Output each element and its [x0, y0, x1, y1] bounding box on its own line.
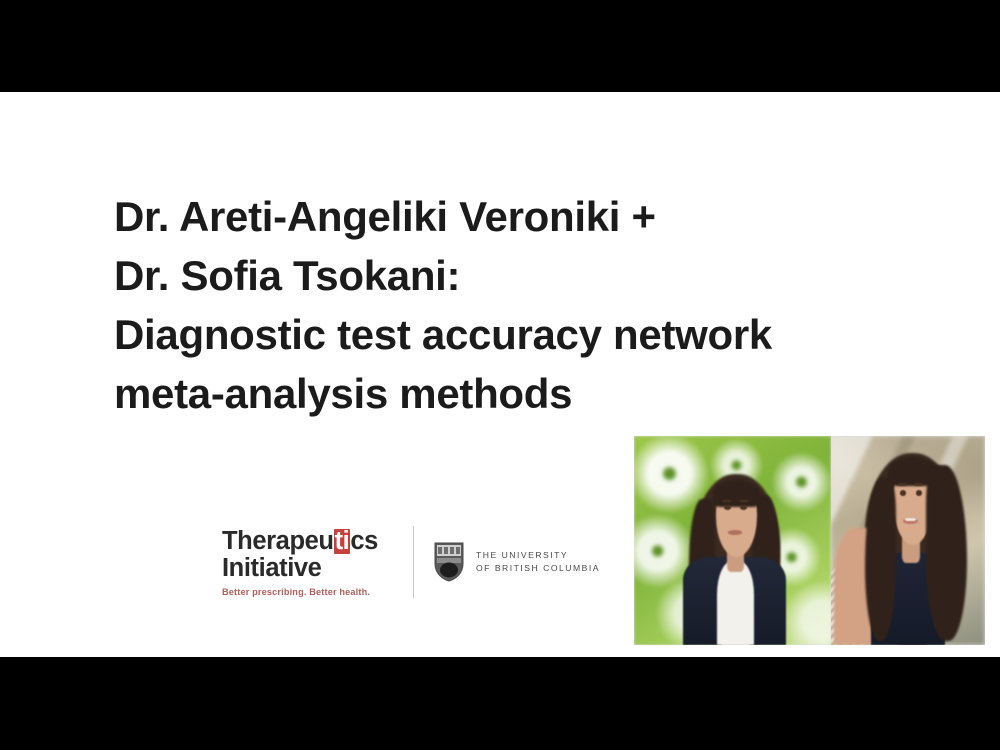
ubc-logo: THE UNIVERSITY OF BRITISH COLUMBIA — [434, 542, 600, 582]
ubc-wordmark: THE UNIVERSITY OF BRITISH COLUMBIA — [476, 549, 600, 575]
hair-left — [865, 478, 896, 641]
ubc-wordmark-line-2: OF BRITISH COLUMBIA — [476, 563, 600, 573]
ti-wordmark-part-2: cs — [350, 527, 378, 555]
ti-wordmark-part-1: Therapeu — [222, 527, 334, 555]
letterbox-bar-top — [0, 0, 1000, 92]
ubc-crest-icon — [434, 542, 464, 582]
logo-row: Therapeutics Initiative Better prescribi… — [222, 522, 600, 602]
eyebrow-left — [722, 500, 732, 503]
logo-divider — [413, 526, 414, 598]
ti-wordmark-line-2: Initiative — [222, 555, 397, 582]
ti-wordmark-highlight: ti — [334, 529, 351, 554]
letterbox-bar-bottom — [0, 657, 1000, 750]
speaker-photos — [634, 436, 985, 645]
hair-fringe — [888, 457, 937, 486]
teeth — [905, 518, 916, 520]
speaker-portrait-left — [634, 436, 831, 645]
eyebrow-right — [739, 500, 749, 503]
ti-wordmark-line-1: Therapeutics — [222, 528, 397, 555]
title-line-3: Diagnostic test accuracy network — [114, 305, 944, 364]
hair-fringe — [713, 480, 760, 507]
title-line-1: Dr. Areti-Angeliki Veroniki + — [114, 187, 944, 246]
title-line-2: Dr. Sofia Tsokani: — [114, 246, 944, 305]
presentation-slide: Dr. Areti-Angeliki Veroniki + Dr. Sofia … — [0, 92, 1000, 657]
video-player-frame: Dr. Areti-Angeliki Veroniki + Dr. Sofia … — [0, 0, 1000, 750]
mouth — [728, 530, 743, 535]
speaker-portrait-right — [831, 436, 985, 645]
slide-title: Dr. Areti-Angeliki Veroniki + Dr. Sofia … — [114, 187, 944, 423]
ti-tagline: Better prescribing. Better health. — [222, 587, 397, 597]
ubc-wordmark-line-1: THE UNIVERSITY — [476, 550, 568, 560]
therapeutics-initiative-logo: Therapeutics Initiative Better prescribi… — [222, 528, 397, 597]
title-line-4: meta-analysis methods — [114, 364, 944, 423]
photo-sofia-tsokani — [831, 436, 985, 645]
hair-right — [926, 465, 966, 641]
photo-areti-angeliki-veroniki — [634, 436, 831, 645]
